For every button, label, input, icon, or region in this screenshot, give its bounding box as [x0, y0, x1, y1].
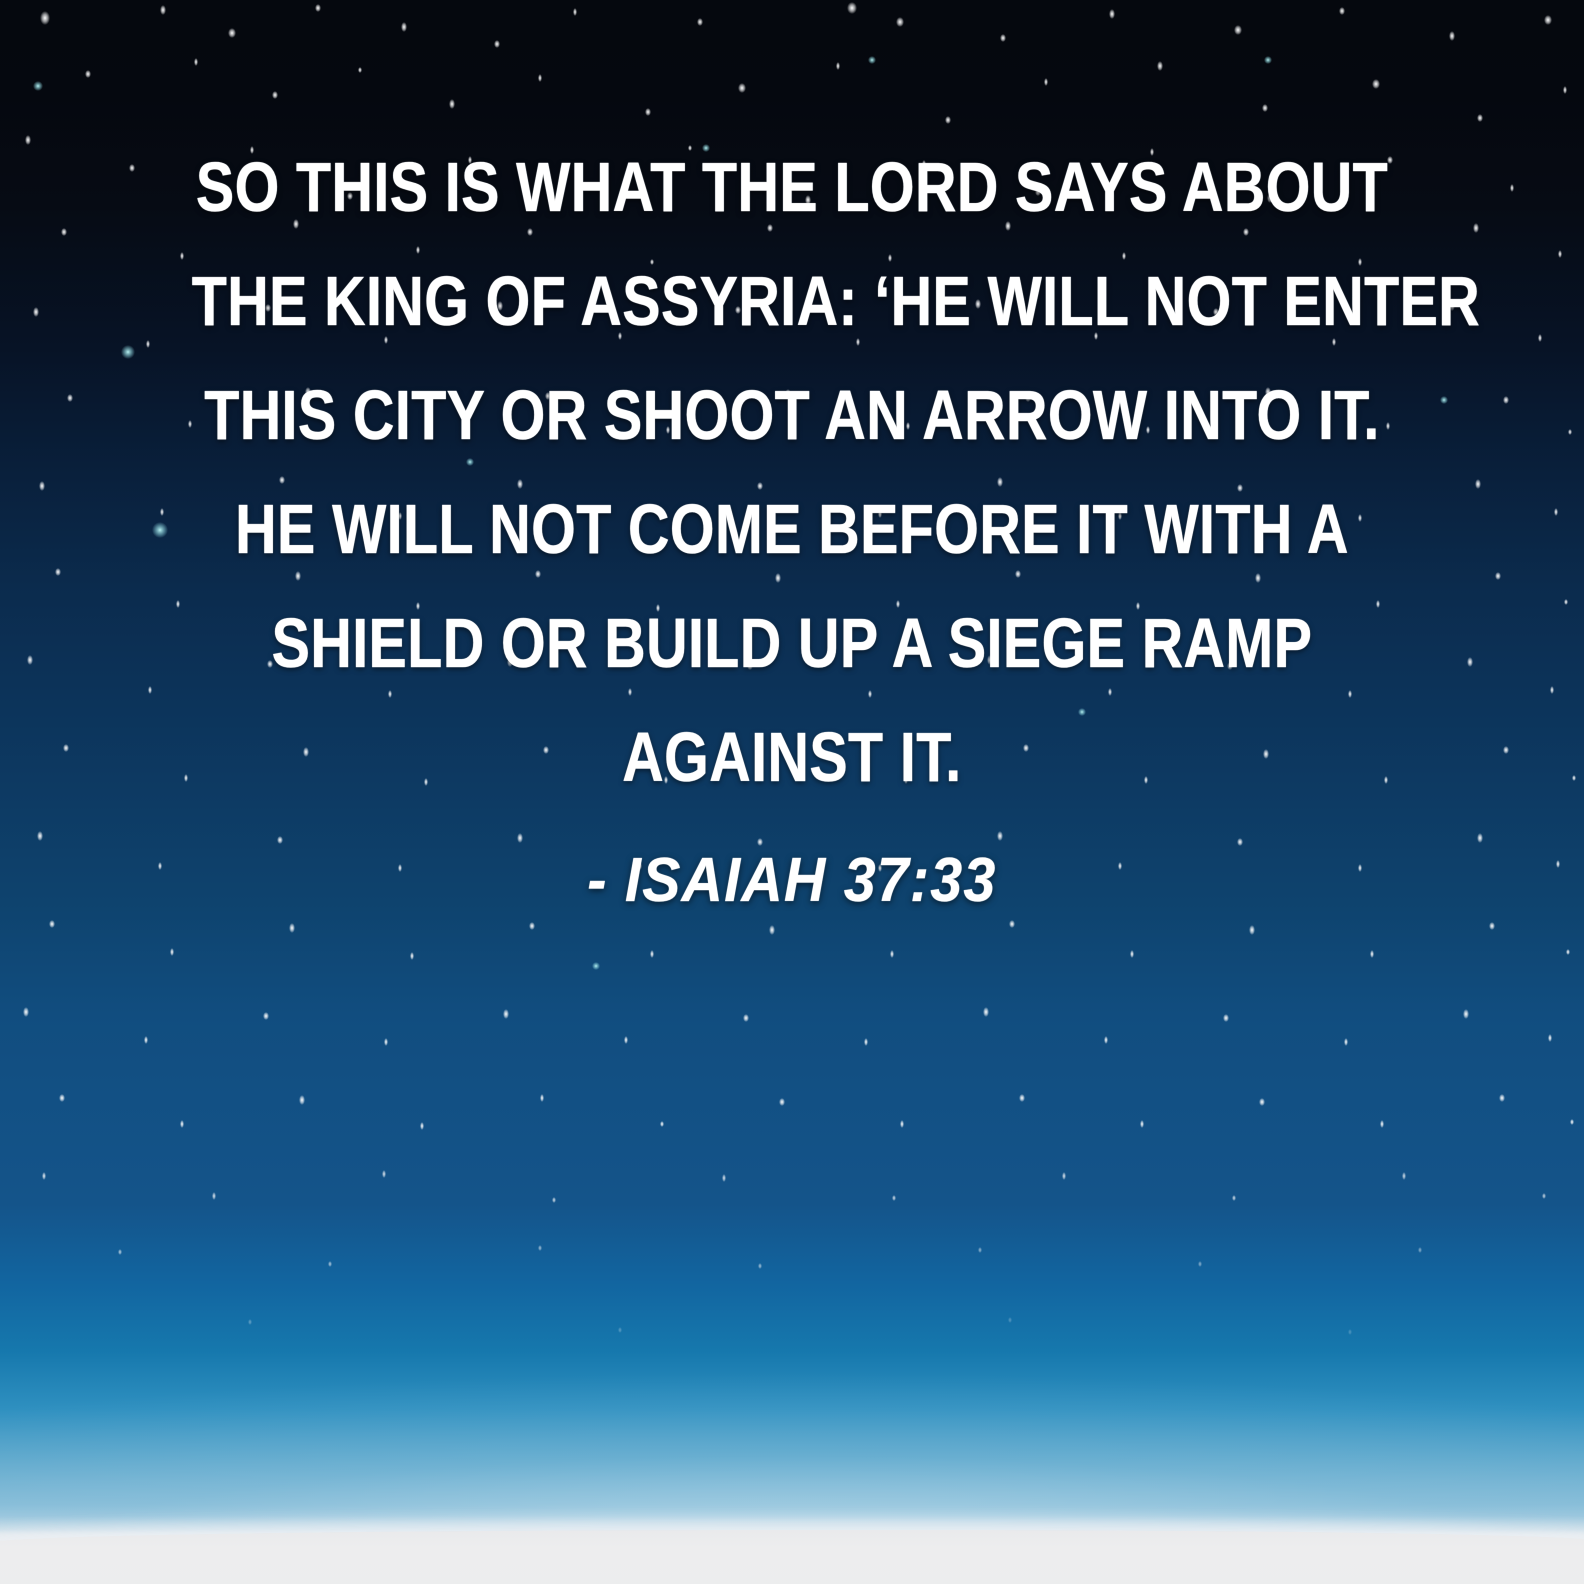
- horizon-ground-band: [0, 1530, 1584, 1584]
- verse-line-6: AGAINST IT.: [192, 700, 1392, 814]
- verse-line-1: SO THIS IS WHAT THE LORD SAYS ABOUT: [192, 130, 1392, 244]
- verse-line-2: THE KING OF ASSYRIA: ‘HE WILL NOT ENTER: [192, 244, 1392, 358]
- verse-text-block: SO THIS IS WHAT THE LORD SAYS ABOUT THE …: [0, 130, 1584, 920]
- verse-image: SO THIS IS WHAT THE LORD SAYS ABOUT THE …: [0, 0, 1584, 1584]
- verse-line-5: SHIELD OR BUILD UP A SIEGE RAMP: [192, 586, 1392, 700]
- verse-line-3: THIS CITY OR SHOOT AN ARROW INTO IT.: [192, 358, 1392, 472]
- verse-line-4: HE WILL NOT COME BEFORE IT WITH A: [192, 472, 1392, 586]
- verse-reference: - ISAIAH 37:33: [119, 842, 1466, 920]
